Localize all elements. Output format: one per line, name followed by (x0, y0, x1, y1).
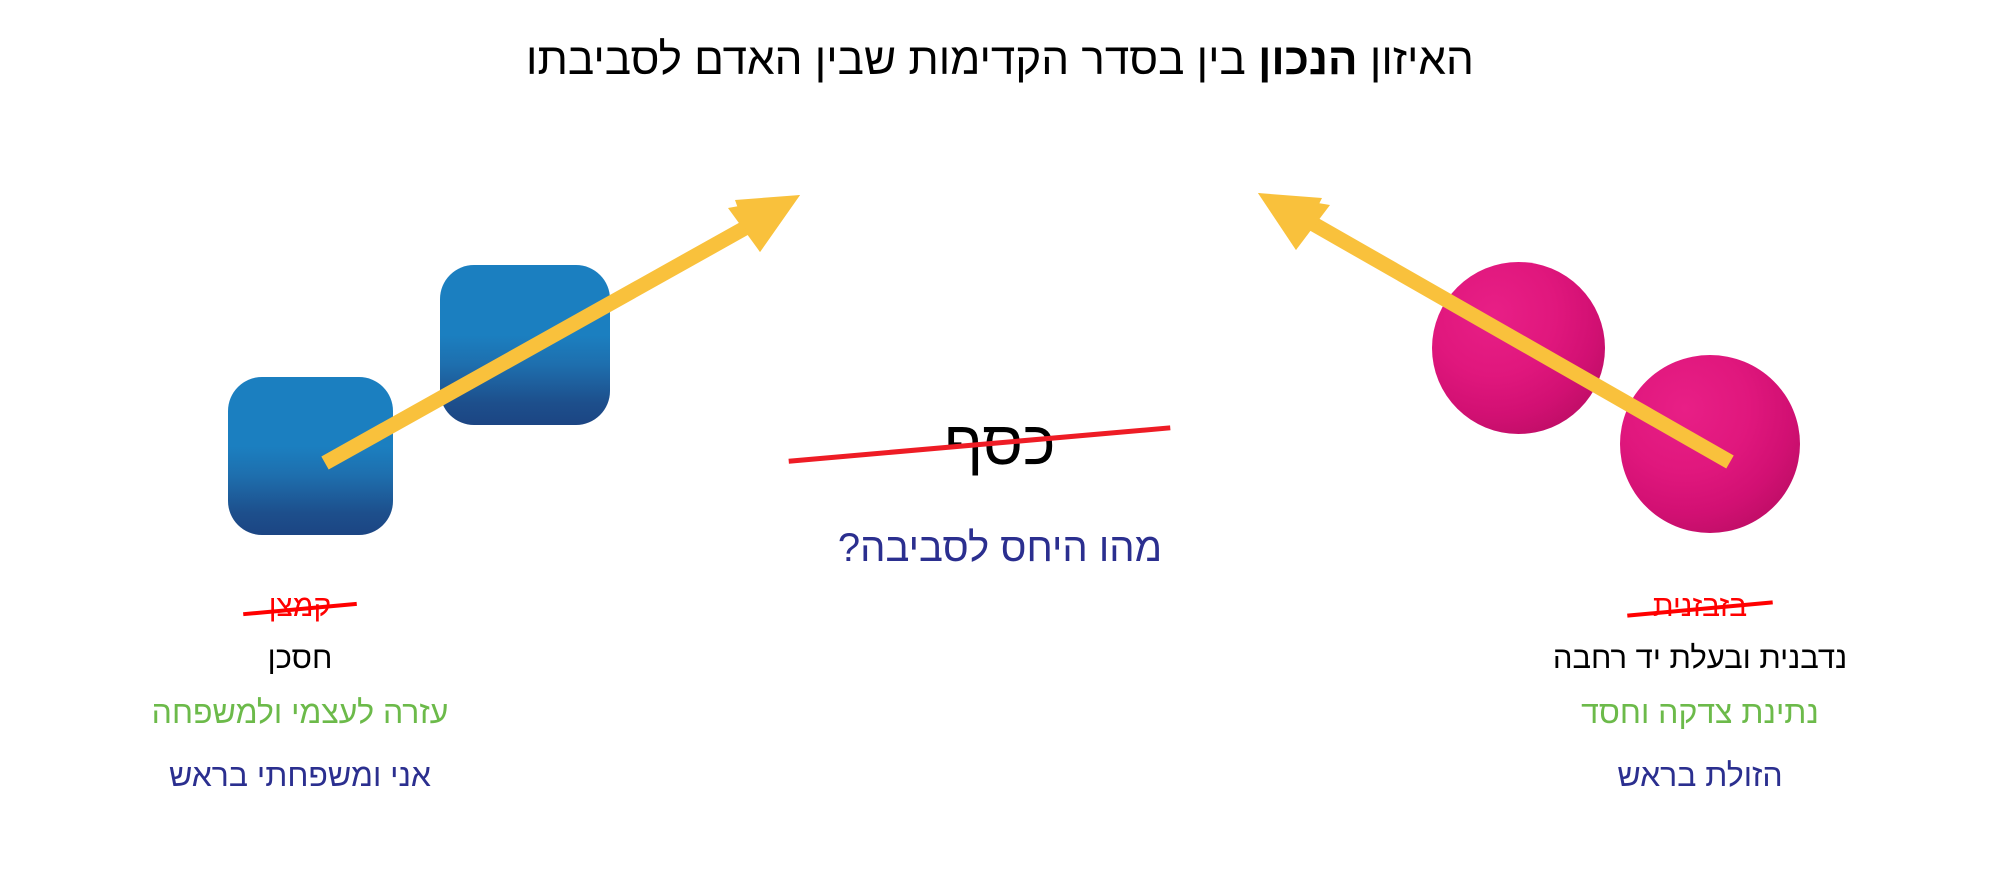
title-part-after: בין בסדר הקדימות שבין האדם לסביבתו (526, 35, 1258, 84)
blue-rounded-square-large (440, 265, 610, 425)
page-title: האיזון הנכון בין בסדר הקדימות שבין האדם … (0, 36, 2000, 84)
title-emphasis-word: הנכון (1258, 35, 1358, 84)
left-main-label: חסכן (40, 640, 560, 676)
right-main-label: נדבנית ובעלת יד רחבה (1440, 640, 1960, 676)
right-struck-label-wrap: בזבזנית (1440, 590, 1960, 624)
left-green-label: עזרה לעצמי ולמשפחה (40, 694, 560, 731)
title-part-before: האיזון (1358, 35, 1474, 84)
right-navy-label: הזולת בראש (1440, 757, 1960, 794)
left-navy-label: אני ומשפחתי בראש (40, 757, 560, 794)
money-word-container: כסף (0, 408, 2000, 479)
center-question: מהו היחס לסביבה? (0, 526, 2000, 571)
slide-canvas: האיזון הנכון בין בסדר הקדימות שבין האדם … (0, 0, 2000, 883)
right-green-label: נתינת צדקה וחסד (1440, 694, 1960, 731)
left-struck-label-wrap: קמצן (40, 590, 560, 624)
